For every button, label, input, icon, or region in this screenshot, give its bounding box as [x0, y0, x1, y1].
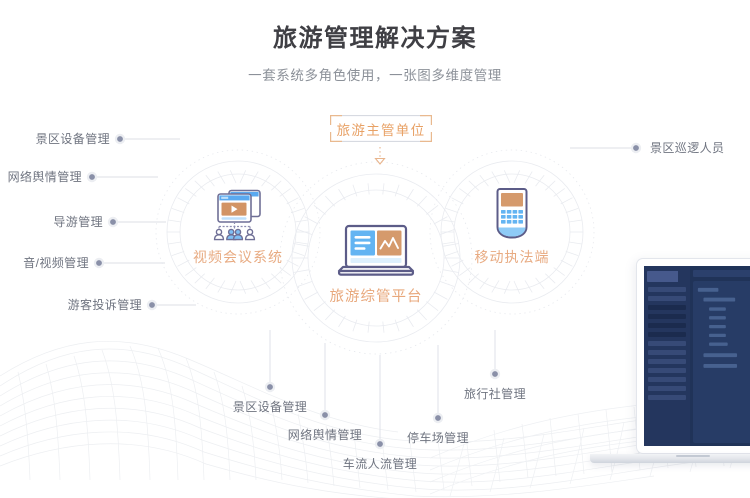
label-right-1[interactable]: 景区巡逻人员	[650, 140, 750, 156]
laptop-dashboard-icon	[334, 224, 418, 282]
label-left-5[interactable]: 游客投诉管理	[0, 297, 142, 313]
page-subtitle: 一套系统多角色使用，一张图多维度管理	[0, 66, 750, 85]
label-bottom-2[interactable]: 网络舆情管理	[265, 427, 385, 443]
label-left-4[interactable]: 音/视频管理	[0, 255, 89, 271]
mockup-menu-item	[648, 305, 686, 310]
mockup-sidebar	[644, 266, 690, 446]
authority-box[interactable]: 旅游主管单位	[330, 115, 432, 142]
mockup-menu-item	[648, 368, 686, 373]
authority-label: 旅游主管单位	[330, 115, 432, 142]
label-left-2[interactable]: 网络舆情管理	[0, 169, 82, 185]
mockup-tree-lines	[696, 284, 750, 440]
label-left-3[interactable]: 导游管理	[0, 214, 103, 230]
mockup-menu-item	[648, 359, 686, 364]
admin-dashboard-mockup[interactable]	[636, 258, 750, 454]
mockup-menu-item	[648, 296, 686, 301]
mockup-menu-item	[648, 287, 686, 292]
label-bottom-3[interactable]: 车流人流管理	[320, 456, 440, 472]
mockup-ui	[644, 266, 750, 446]
mockup-menu-item	[648, 386, 686, 391]
mockup-menu-item	[648, 332, 686, 337]
label-bottom-1[interactable]: 景区设备管理	[210, 399, 330, 415]
label-bottom-4[interactable]: 停车场管理	[378, 430, 498, 446]
mockup-menu-item	[648, 314, 686, 319]
mockup-tree-panel	[693, 281, 750, 443]
node-video-conference-label: 视频会议系统	[178, 248, 298, 266]
label-bottom-5[interactable]: 旅行社管理	[435, 386, 555, 402]
mockup-topbar	[693, 270, 750, 277]
node-video-conference[interactable]: 视频会议系统	[178, 186, 298, 266]
label-left-1[interactable]: 景区设备管理	[0, 131, 110, 147]
node-platform-label: 旅游综管平台	[316, 288, 436, 306]
mockup-main	[690, 266, 750, 446]
mockup-screen	[636, 258, 750, 454]
mockup-menu-item	[648, 350, 686, 355]
mockup-menu-item	[648, 377, 686, 382]
mockup-menu-item	[648, 395, 686, 400]
authority-arrow-icon	[376, 147, 385, 164]
node-mobile-enforcement-label: 移动执法端	[452, 248, 572, 266]
poster-canvas: 旅游管理解决方案 一套系统多角色使用，一张图多维度管理	[0, 0, 750, 498]
node-platform[interactable]: 旅游综管平台	[316, 224, 436, 306]
handheld-device-icon	[489, 186, 535, 242]
video-conference-icon	[207, 186, 269, 242]
mockup-menu-item	[648, 323, 686, 328]
mockup-brand	[647, 271, 687, 282]
header: 旅游管理解决方案 一套系统多角色使用，一张图多维度管理	[0, 0, 750, 85]
page-title: 旅游管理解决方案	[0, 24, 750, 54]
node-mobile-enforcement[interactable]: 移动执法端	[452, 186, 572, 266]
mockup-menu-item	[648, 341, 686, 346]
mockup-laptop-base	[590, 454, 750, 463]
